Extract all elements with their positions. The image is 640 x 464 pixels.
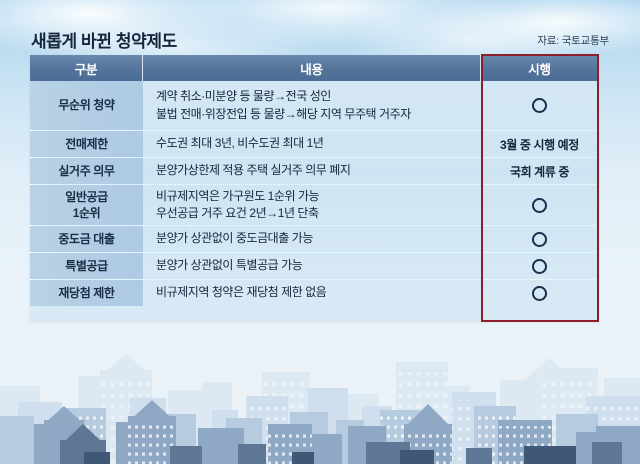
table-row: 중도금 대출분양가 상관없이 중도금대출 가능 — [30, 225, 598, 252]
naeyong-line: 분양가상한제 적용 주택 실거주 의무 폐지 — [156, 162, 481, 179]
cell-sihaeng: 3월 중 시행 예정 — [481, 131, 598, 157]
page-title: 새롭게 바뀐 청약제도 — [31, 27, 177, 52]
table-body: 무순위 청약계약 취소·미분양 등 물량→전국 성인불법 전매·위장전입 등 물… — [30, 81, 598, 306]
cell-naeyong: 분양가상한제 적용 주택 실거주 의무 폐지 — [143, 158, 481, 184]
cell-sihaeng — [481, 185, 598, 225]
column-header-naeyong: 내용 — [143, 55, 481, 81]
naeyong-line: 수도권 최대 3년, 비수도권 최대 1년 — [156, 135, 481, 152]
cell-sihaeng — [481, 226, 598, 252]
circle-mark-icon — [532, 286, 547, 301]
cell-gubun: 중도금 대출 — [30, 226, 143, 252]
table-row: 일반공급1순위비규제지역은 가구원도 1순위 가능우선공급 거주 요건 2년→1… — [30, 184, 598, 225]
cell-sihaeng — [481, 81, 598, 130]
cell-naeyong: 계약 취소·미분양 등 물량→전국 성인불법 전매·위장전입 등 물량→해당 지… — [143, 81, 481, 130]
naeyong-line: 계약 취소·미분양 등 물량→전국 성인 — [156, 88, 481, 105]
table-row: 특별공급분양가 상관없이 특별공급 가능 — [30, 252, 598, 279]
infographic-root: 새롭게 바뀐 청약제도 자료: 국토교통부 구분 내용 시행 무순위 청약계약 … — [0, 0, 640, 464]
naeyong-line: 비규제지역은 가구원도 1순위 가능 — [156, 188, 481, 205]
naeyong-line: 불법 전매·위장전입 등 물량→해당 지역 무주택 거주자 — [156, 106, 481, 123]
naeyong-line: 우선공급 거주 요건 2년→1년 단축 — [156, 205, 481, 222]
circle-mark-icon — [532, 98, 547, 113]
naeyong-line: 분양가 상관없이 중도금대출 가능 — [156, 230, 481, 247]
table-row: 전매제한수도권 최대 3년, 비수도권 최대 1년3월 중 시행 예정 — [30, 130, 598, 157]
table-row: 재당첨 제한비규제지역 청약은 재당첨 제한 없음 — [30, 279, 598, 306]
table-row: 실거주 의무분양가상한제 적용 주택 실거주 의무 폐지국회 계류 중 — [30, 157, 598, 184]
cell-naeyong: 비규제지역은 가구원도 1순위 가능우선공급 거주 요건 2년→1년 단축 — [143, 185, 481, 225]
city-skyline-illustration — [0, 324, 640, 464]
cell-sihaeng — [481, 280, 598, 306]
table-row: 무순위 청약계약 취소·미분양 등 물량→전국 성인불법 전매·위장전입 등 물… — [30, 81, 598, 130]
cell-naeyong: 분양가 상관없이 특별공급 가능 — [143, 253, 481, 279]
circle-mark-icon — [532, 259, 547, 274]
cell-gubun: 일반공급1순위 — [30, 185, 143, 225]
cell-sihaeng: 국회 계류 중 — [481, 158, 598, 184]
circle-mark-icon — [532, 232, 547, 247]
naeyong-line: 비규제지역 청약은 재당첨 제한 없음 — [156, 284, 481, 301]
source-attribution: 자료: 국토교통부 — [537, 33, 609, 48]
column-header-gubun: 구분 — [30, 55, 143, 81]
cell-naeyong: 수도권 최대 3년, 비수도권 최대 1년 — [143, 131, 481, 157]
cell-gubun: 재당첨 제한 — [30, 280, 143, 306]
cell-gubun: 실거주 의무 — [30, 158, 143, 184]
table-header-row: 구분 내용 시행 — [30, 55, 598, 81]
column-header-sihaeng: 시행 — [481, 55, 598, 81]
policy-table: 구분 내용 시행 무순위 청약계약 취소·미분양 등 물량→전국 성인불법 전매… — [30, 55, 598, 321]
naeyong-line: 분양가 상관없이 특별공급 가능 — [156, 257, 481, 274]
cell-gubun: 전매제한 — [30, 131, 143, 157]
circle-mark-icon — [532, 198, 547, 213]
cell-sihaeng — [481, 253, 598, 279]
cell-gubun: 무순위 청약 — [30, 81, 143, 130]
cell-naeyong: 분양가 상관없이 중도금대출 가능 — [143, 226, 481, 252]
cell-gubun: 특별공급 — [30, 253, 143, 279]
cell-naeyong: 비규제지역 청약은 재당첨 제한 없음 — [143, 280, 481, 306]
